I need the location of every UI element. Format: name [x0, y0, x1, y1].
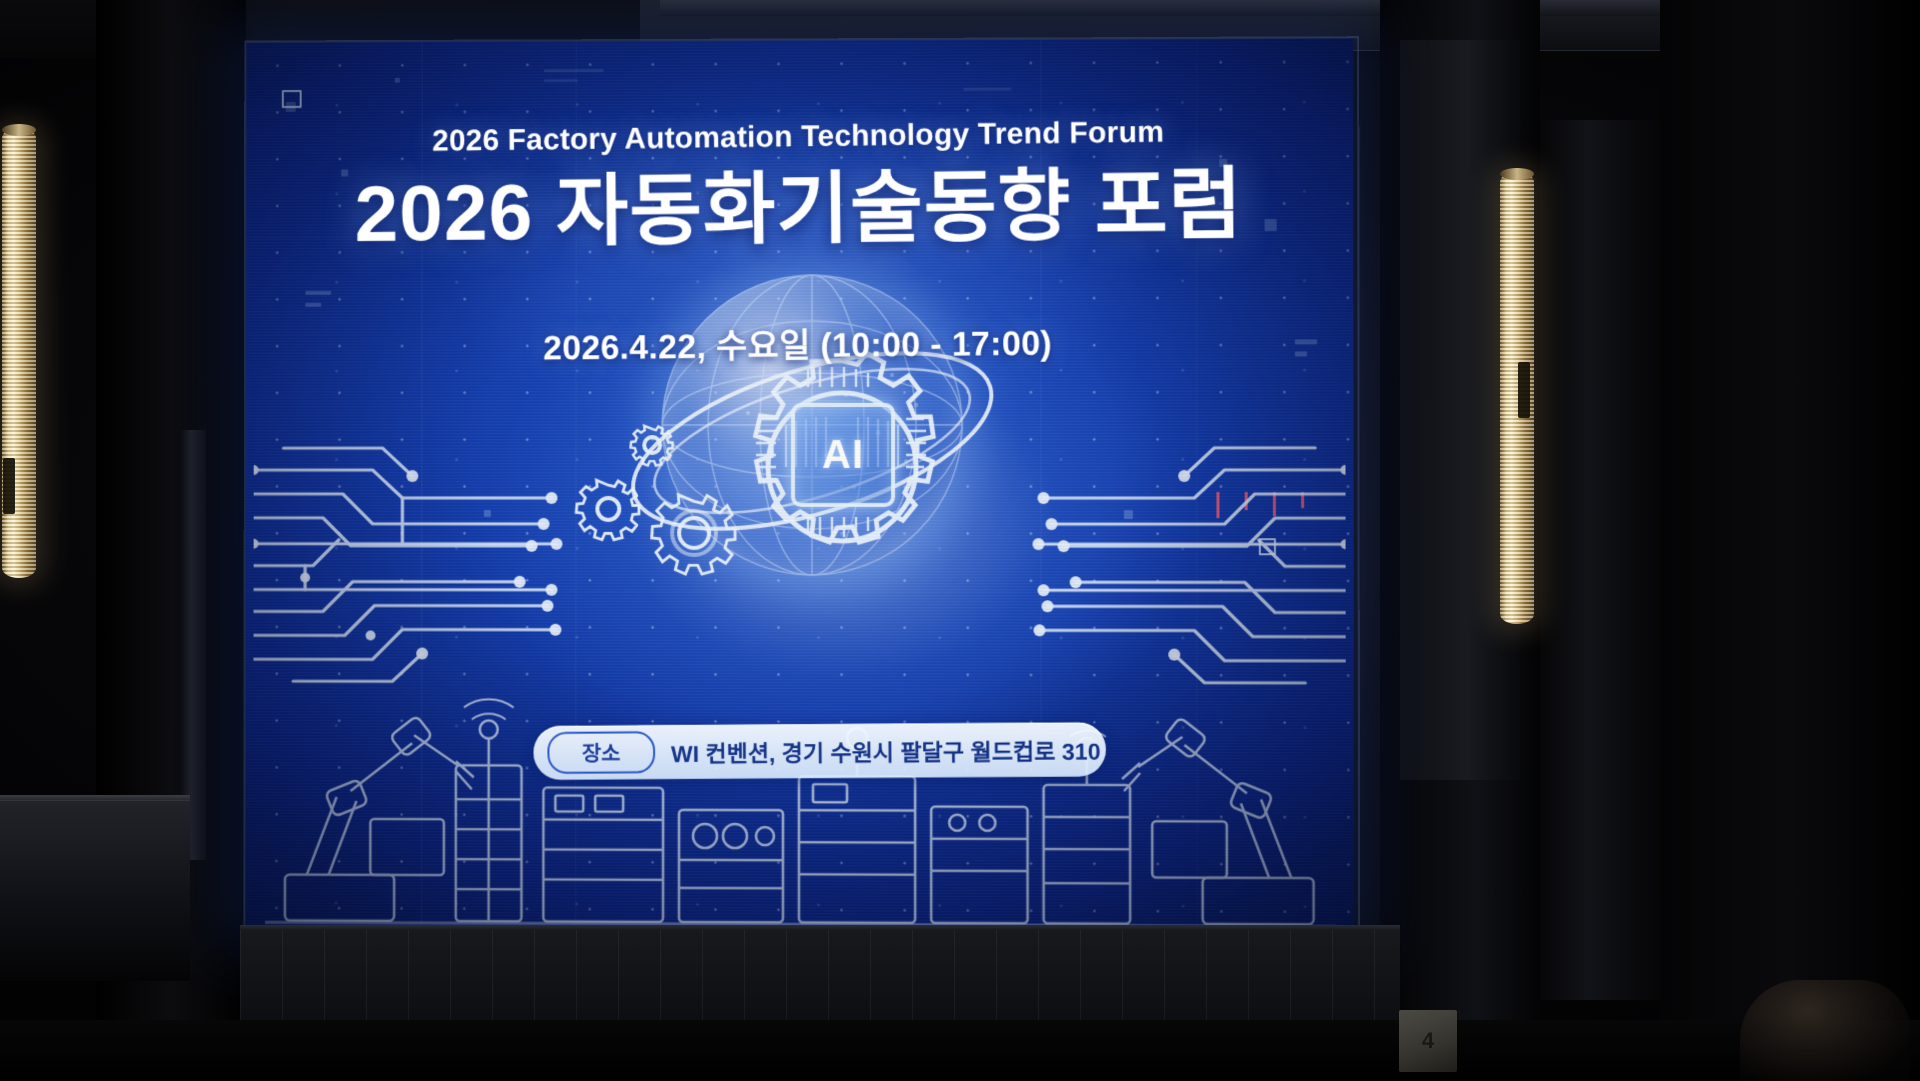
sconce-cap: [1500, 168, 1534, 180]
left-console-cabinet: [0, 800, 190, 981]
sconce-band: [1518, 362, 1530, 418]
slide-main-title: 2026 자동화기술동향 포럼: [246, 159, 1354, 260]
door-number-placard: 4: [1399, 1010, 1457, 1072]
floor: [0, 1020, 1920, 1081]
venue-badge-label: 장소: [547, 731, 655, 774]
wall-sconce-right: [1500, 172, 1534, 624]
door-number-label: 4: [1422, 1028, 1434, 1054]
venue-address: WI 컨벤션, 경기 수원시 팔달구 월드컵로 310: [671, 732, 1101, 769]
audience-silhouette: [1740, 980, 1910, 1081]
conference-room-scene: AI: [0, 0, 1920, 1081]
wall-sconce-left: [2, 128, 36, 578]
door-right: [1540, 120, 1660, 1000]
slide-canvas: AI: [245, 38, 1354, 932]
venue-pill: 장소 WI 컨벤션, 경기 수원시 팔달구 월드컵로 310: [533, 722, 1106, 780]
sconce-band: [3, 458, 15, 514]
projection-screen: AI: [245, 38, 1354, 932]
ceiling-label: [1130, 0, 1350, 12]
wall-drape-far-right: [1660, 0, 1920, 1081]
sconce-cap: [2, 124, 36, 136]
